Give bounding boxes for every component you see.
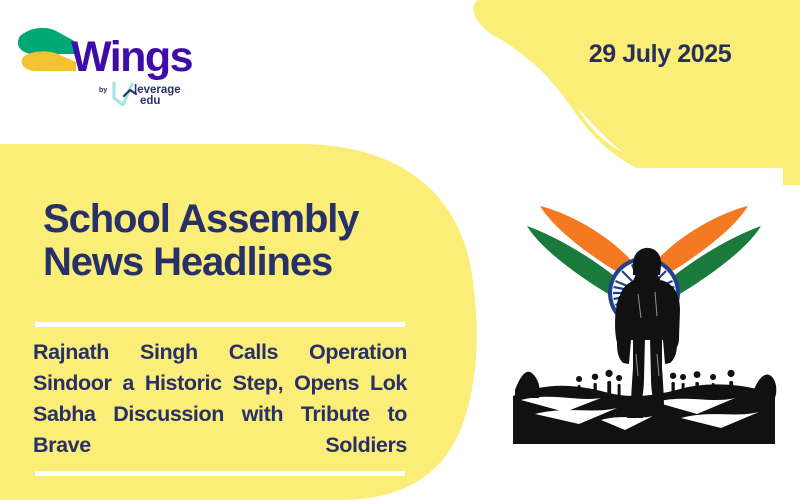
page-title: School Assembly News Headlines — [43, 198, 443, 284]
soldier-tricolour-illustration — [505, 168, 783, 444]
news-headline-graphic: Wings by leverage edu 29 July 2025 Schoo… — [0, 0, 800, 500]
date-label: 29 July 2025 — [560, 40, 760, 69]
wings-logo-svg: Wings by leverage edu — [14, 14, 194, 106]
leverage-check-icon — [114, 83, 136, 105]
wings-swoosh-icon — [18, 28, 76, 71]
page-title-line-2: News Headlines — [43, 241, 443, 284]
edu-wordmark: edu — [140, 95, 160, 106]
hero-artwork — [505, 168, 783, 444]
wings-wordmark: Wings — [71, 33, 193, 81]
divider-top — [35, 322, 405, 327]
wings-logo-by: by — [99, 87, 107, 94]
wings-logo[interactable]: Wings by leverage edu — [14, 14, 194, 106]
page-title-line-1: School Assembly — [43, 198, 443, 241]
headline-text: Rajnath Singh Calls Operation Sindoor a … — [33, 337, 407, 492]
